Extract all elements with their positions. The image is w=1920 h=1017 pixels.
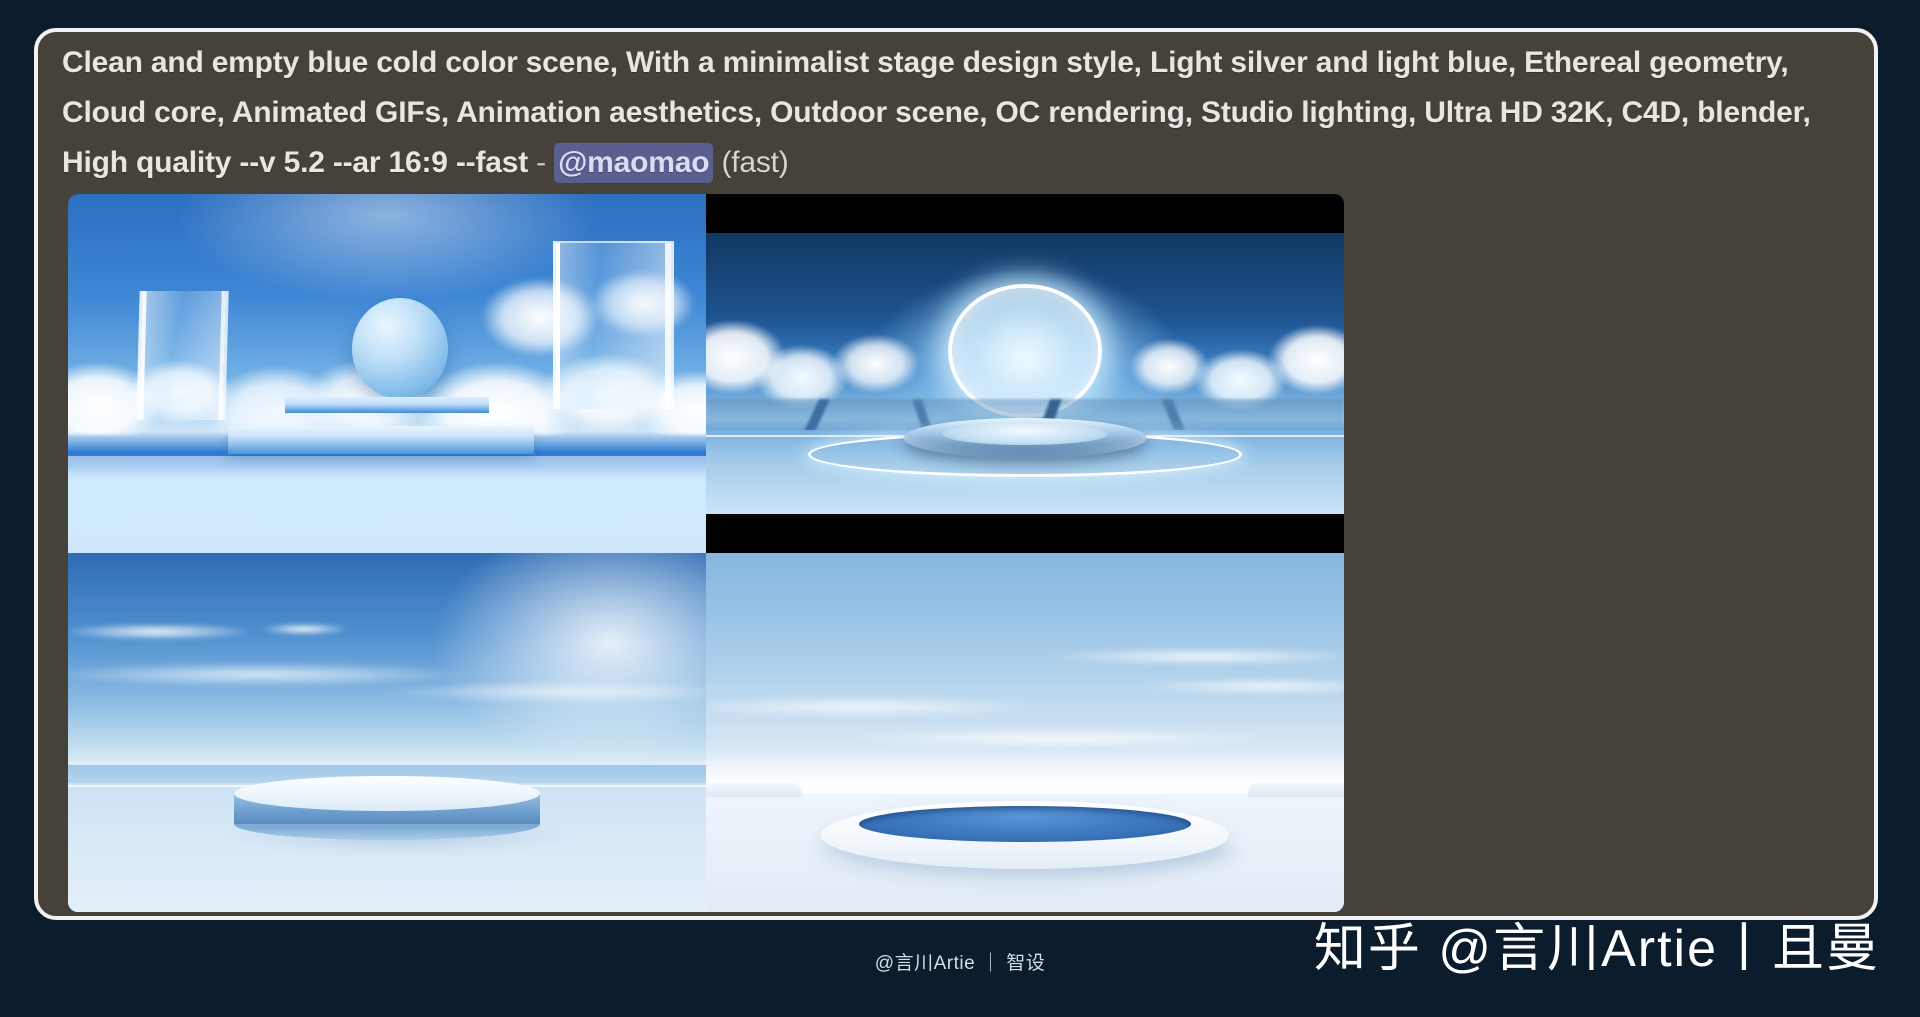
podium-step-top xyxy=(285,397,489,413)
wispy-clouds xyxy=(68,614,706,740)
cylinder-top xyxy=(234,776,540,812)
grid-image-bottom-left[interactable] xyxy=(68,553,706,912)
glass-panel-left xyxy=(136,291,229,420)
sphere-object xyxy=(352,298,448,399)
mention-maomao[interactable]: @maomao xyxy=(554,143,713,183)
grid-image-bottom-right[interactable] xyxy=(706,553,1344,912)
ledge-right xyxy=(1248,783,1344,797)
letterbox-frame xyxy=(706,233,1344,513)
podium-step-bottom xyxy=(228,426,534,455)
image-grid[interactable] xyxy=(68,194,1344,912)
prompt-text: Clean and empty blue cold color scene, W… xyxy=(62,46,1811,179)
ring-podium-inner xyxy=(859,806,1191,842)
podium-inner-disc xyxy=(942,423,1108,445)
prompt-separator: - xyxy=(528,146,554,179)
cloud-cluster-left xyxy=(706,301,942,413)
ledge-left xyxy=(706,783,802,797)
grid-image-top-left[interactable] xyxy=(68,194,706,553)
result-card: Clean and empty blue cold color scene, W… xyxy=(34,28,1878,920)
cirrus-clouds xyxy=(706,632,1344,768)
grid-image-top-right[interactable] xyxy=(706,194,1344,553)
prompt-status: (fast) xyxy=(713,146,788,179)
reflective-floor xyxy=(68,456,706,553)
prompt-block: Clean and empty blue cold color scene, W… xyxy=(62,38,1854,188)
glass-panel-right xyxy=(553,241,674,410)
zhihu-watermark: 知乎 @言川Artie丨且曼 xyxy=(1314,906,1880,981)
